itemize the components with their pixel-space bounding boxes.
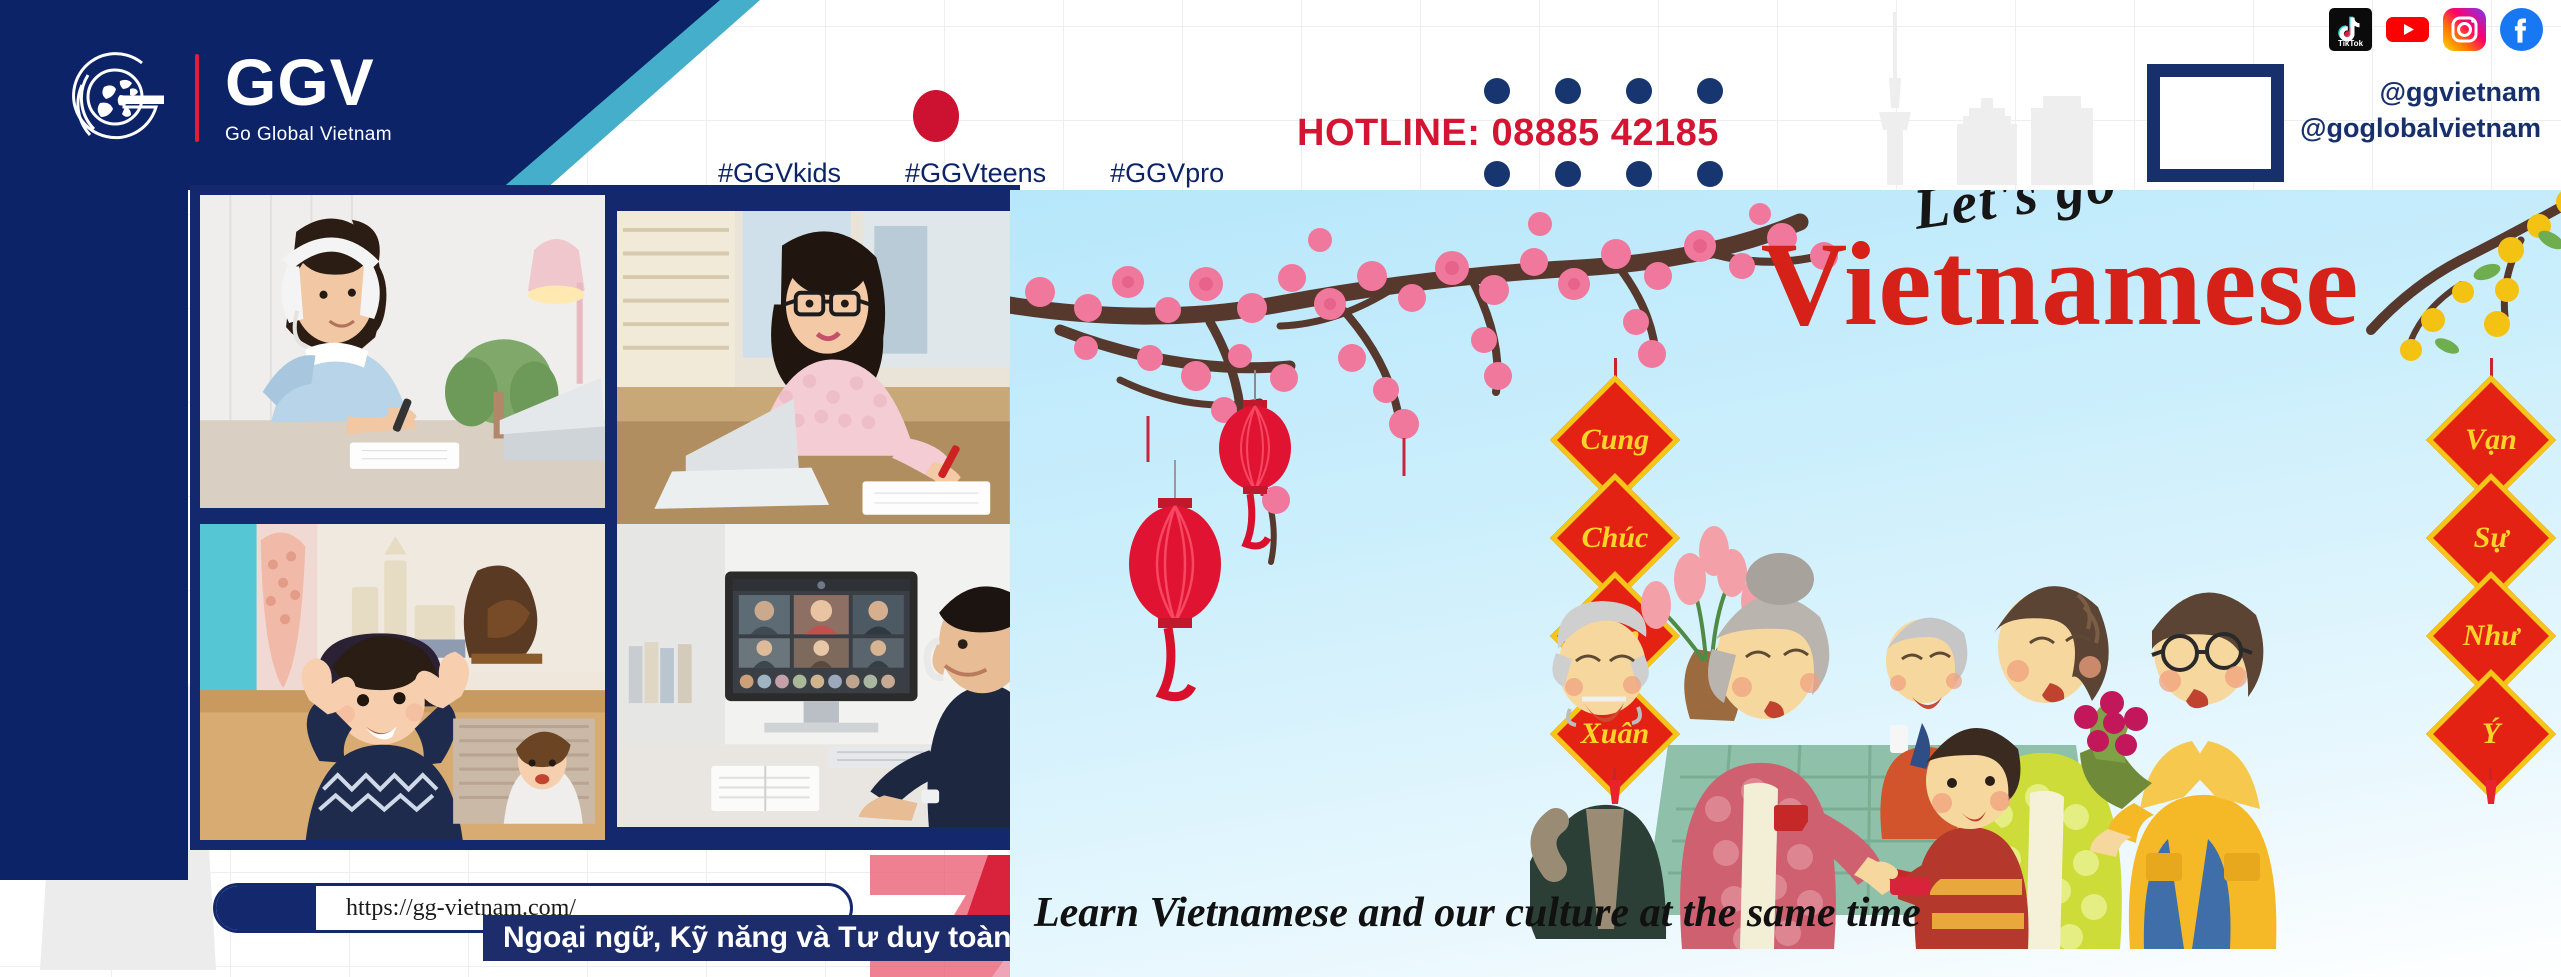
vietnamese-family-tet-illustration [1530, 509, 2330, 949]
hotline-block: HOTLINE: 08885 42185 [1412, 78, 1723, 187]
handle-ggvietnam: @ggvietnam [2300, 74, 2541, 110]
photo-collage [190, 185, 1020, 850]
hashtag-teens[interactable]: #GGVteens [905, 158, 1046, 189]
title-main: Vietnamese [1610, 227, 2510, 341]
tiktok-icon[interactable]: TikTok [2329, 8, 2372, 51]
tet-banner-right: Vạn Sự Như Ý [2431, 380, 2551, 772]
dot [1626, 78, 1652, 104]
svg-text:TikTok: TikTok [2338, 39, 2364, 48]
dot [1555, 78, 1581, 104]
dot [1626, 161, 1652, 187]
vietnamese-promo-panel: Cung Chúc Tân Xuân [1010, 190, 2561, 977]
youtube-icon[interactable] [2386, 8, 2429, 51]
hashtag-pro[interactable]: #GGVpro [1110, 158, 1224, 189]
photo-woman-glasses-laptop [617, 211, 1010, 524]
hotline-text: HOTLINE: 08885 42185 [1297, 112, 1723, 155]
brand-logo: GGV Go Global Vietnam [68, 45, 392, 150]
social-icons-row: TikTok [2329, 8, 2543, 51]
globe-g-icon [68, 45, 173, 150]
brand-tagline: Go Global Vietnam [225, 124, 392, 146]
qr-code-frame[interactable] [2147, 64, 2284, 182]
logo-divider [195, 54, 199, 142]
facebook-icon[interactable] [2500, 8, 2543, 51]
dot [1697, 161, 1723, 187]
red-dot-accent [913, 90, 959, 142]
dot [1555, 161, 1581, 187]
poster-canvas: GGV Go Global Vietnam #GGVkids #GGVteens… [0, 0, 2561, 977]
dot [1484, 78, 1510, 104]
hotline-dots-top [1484, 78, 1723, 104]
dot [1484, 161, 1510, 187]
banner-tassel [2483, 768, 2499, 806]
hashtag-kids[interactable]: #GGVkids [718, 158, 841, 189]
panel-title-block: Let's go Vietnamese [1610, 190, 2510, 341]
city-skyline-watermark [1851, 0, 2181, 185]
handle-goglobalvietnam: @goglobalvietnam [2300, 110, 2541, 146]
photo-man-group-video-call [617, 524, 1010, 827]
photo-toddler-video-call [200, 524, 605, 840]
brand-name: GGV [225, 49, 392, 115]
red-lantern-large [1120, 460, 1230, 710]
url-bar-cap [216, 886, 316, 930]
hashtag-row: #GGVkids #GGVteens #GGVpro [718, 158, 1224, 189]
tagline-banner: Ngoại ngữ, Kỹ năng và Tư duy toàn cầu [483, 915, 1092, 961]
hotline-dots-bottom [1484, 161, 1723, 187]
photo-girl-headphones-laptop [200, 195, 605, 508]
social-handles: @ggvietnam @goglobalvietnam [2300, 74, 2541, 147]
dot [1697, 78, 1723, 104]
instagram-icon[interactable] [2443, 8, 2486, 51]
panel-caption: Learn Vietnamese and our culture at the … [1034, 889, 1921, 937]
